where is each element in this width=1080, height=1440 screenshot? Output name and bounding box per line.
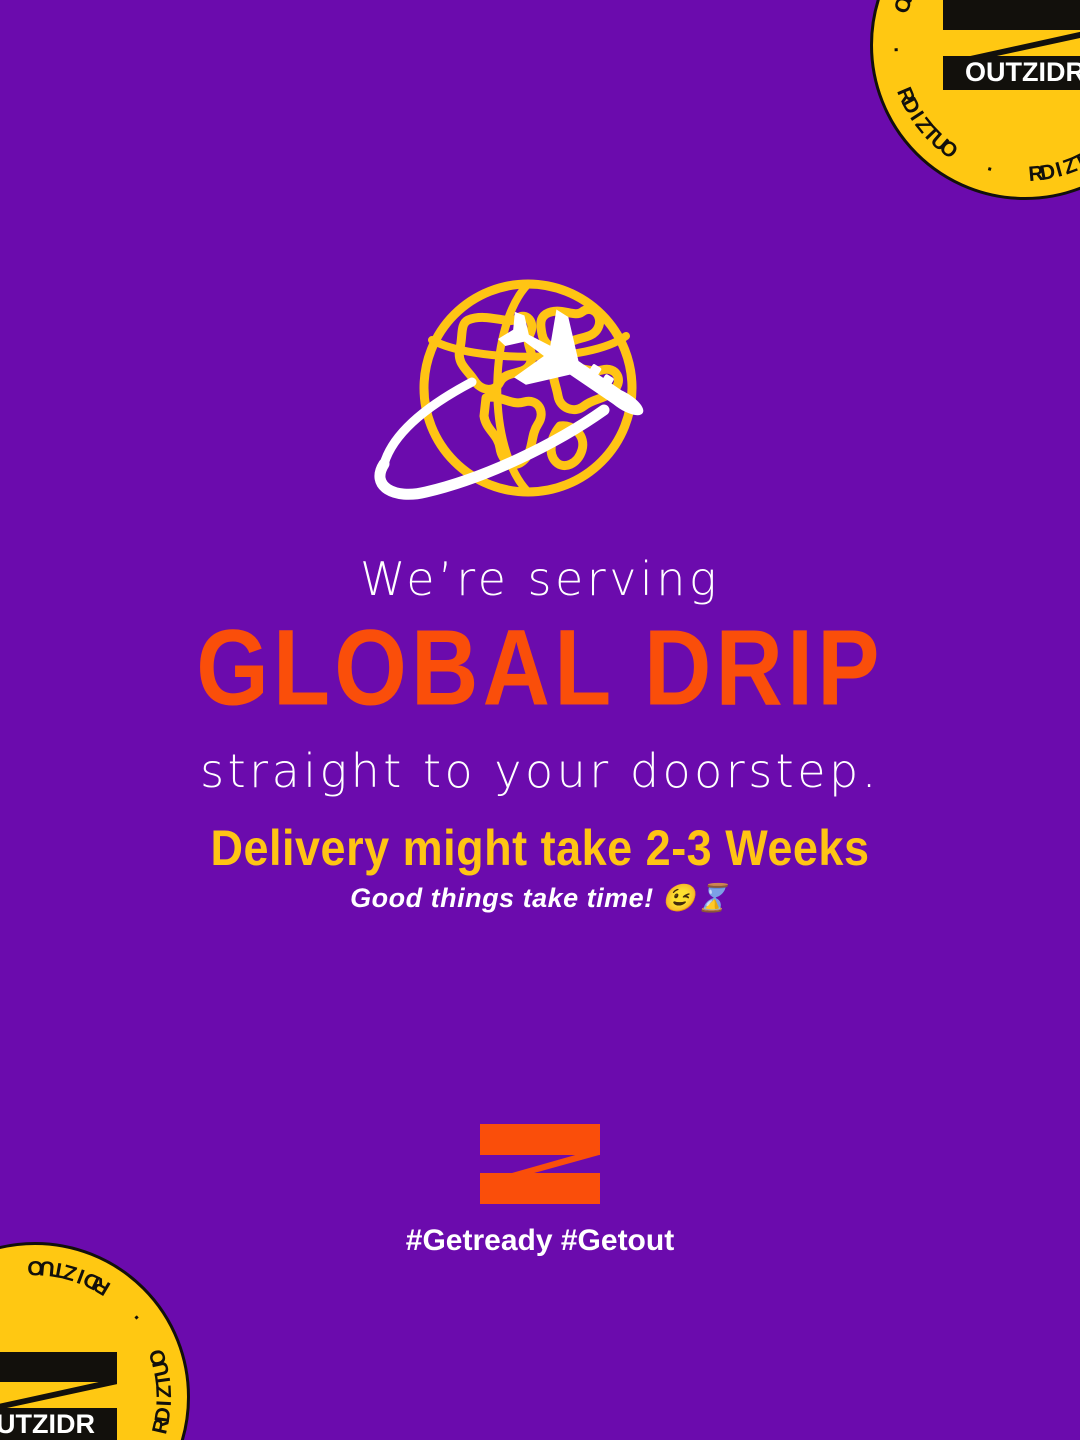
headline-block: We’re serving GLOBAL DRIP straight to yo… [0, 552, 1080, 798]
sticker-ring-char: · [983, 158, 997, 183]
sticker-ring-char: R [1028, 162, 1046, 187]
globe-airplane-illustration [360, 278, 720, 508]
outzidr-logo-icon [480, 1124, 600, 1204]
sticker-core-bottom-left: OUTZIDR [0, 1352, 117, 1440]
delivery-tagline: Good things take time! 😉⌛ [0, 882, 1080, 914]
delivery-notice: Delivery might take 2-3 Weeks [0, 819, 1080, 877]
copy-line-3: straight to your doorstep. [0, 744, 1080, 798]
promo-poster: OUTZIDR·OUTZIDR·OUTZIDR·OUTZIDR·OUTZIDR·… [0, 0, 1080, 1440]
sticker-ring-char: · [883, 46, 907, 55]
sticker-wordmark: OUTZIDR [943, 56, 1080, 90]
sticker-core-top-right: OUTZIDR [943, 0, 1080, 90]
sticker-badge-top-right: OUTZIDR·OUTZIDR·OUTZIDR·OUTZIDR·OUTZIDR·… [870, 0, 1080, 200]
sticker-badge-bottom-left: OUTZIDR·OUTZIDR·OUTZIDR·OUTZIDR·OUTZIDR·… [0, 1242, 190, 1440]
copy-headline: GLOBAL DRIP [0, 605, 1080, 732]
copy-line-1: We’re serving [0, 552, 1080, 606]
footer-block: #Getready #Getout [0, 1124, 1080, 1258]
sticker-ring-char: · [125, 1305, 149, 1326]
sticker-ring-char: Z [153, 1384, 178, 1399]
sticker-wordmark: OUTZIDR [0, 1408, 117, 1440]
